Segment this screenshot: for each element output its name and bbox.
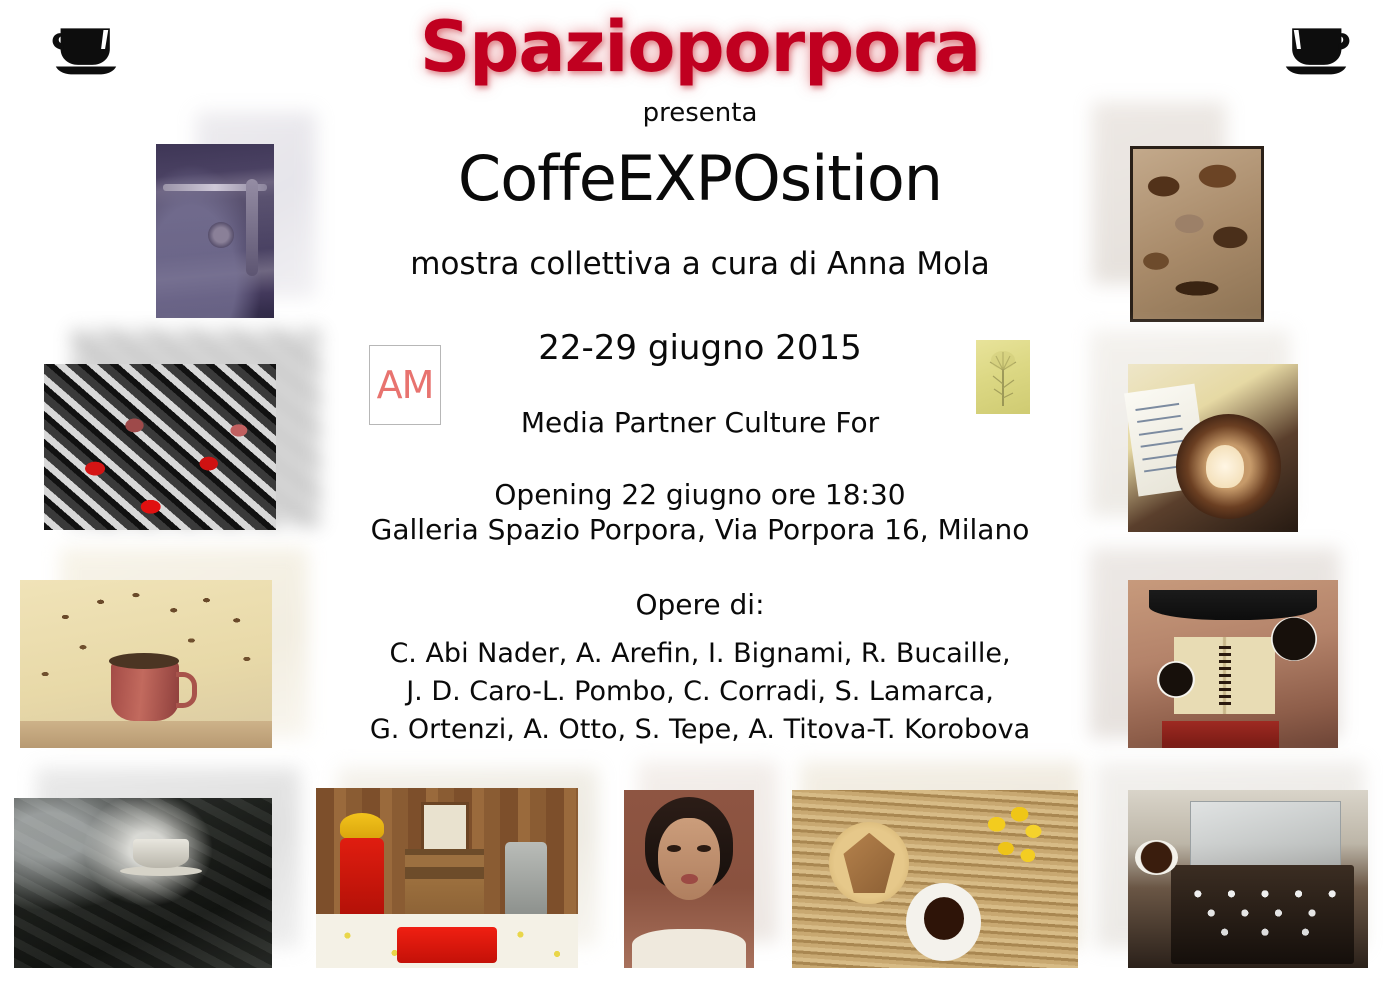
typewriter-keys <box>1181 883 1349 944</box>
wooden-dresser <box>405 849 484 917</box>
hair-salon-photo <box>316 788 578 968</box>
exhibition-title: CoffeEXPOsition <box>0 142 1400 215</box>
wall-picture-frame <box>421 802 469 851</box>
artists-line: G. Ortenzi, A. Otto, S. Tepe, A. Titova-… <box>0 714 1400 745</box>
artists-line: J. D. Caro-L. Pombo, C. Corradi, S. Lama… <box>0 676 1400 707</box>
am-logo-text: AM <box>377 366 434 404</box>
red-tray <box>397 927 497 963</box>
poster-canvas: AM Spazioporpora presenta CoffeEXPOsitio… <box>0 0 1400 990</box>
presenta-label: presenta <box>0 98 1400 128</box>
hair-dryer-hood <box>340 813 385 840</box>
white-shirt <box>632 929 746 968</box>
venue-address: Galleria Spazio Porpora, Via Porpora 16,… <box>0 513 1400 546</box>
opening-info: Opening 22 giugno ore 18:30 <box>0 478 1400 511</box>
seated-man <box>505 842 547 918</box>
coffee-cup <box>924 897 964 940</box>
woman-in-red <box>340 838 385 921</box>
exhibition-dates: 22-29 giugno 2015 <box>0 328 1400 368</box>
portrait-photo <box>624 790 754 968</box>
page-title: Spazioporpora <box>0 6 1400 88</box>
media-partner: Media Partner Culture For <box>0 406 1400 439</box>
exhibition-subtitle: mostra collettiva a cura di Anna Mola <box>0 246 1400 282</box>
face <box>658 818 720 900</box>
bread-and-coffee-photo <box>792 790 1078 968</box>
typewriter-photo <box>1128 790 1368 968</box>
vintage-cup <box>133 839 190 868</box>
artists-label: Opere di: <box>0 588 1400 621</box>
glass-cover <box>1190 801 1341 871</box>
artists-line: C. Abi Nader, A. Arefin, I. Bignami, R. … <box>0 638 1400 669</box>
machine-bolt <box>208 222 234 248</box>
vintage-still-life-photo <box>14 798 272 968</box>
yellow-flowers <box>969 797 1061 875</box>
